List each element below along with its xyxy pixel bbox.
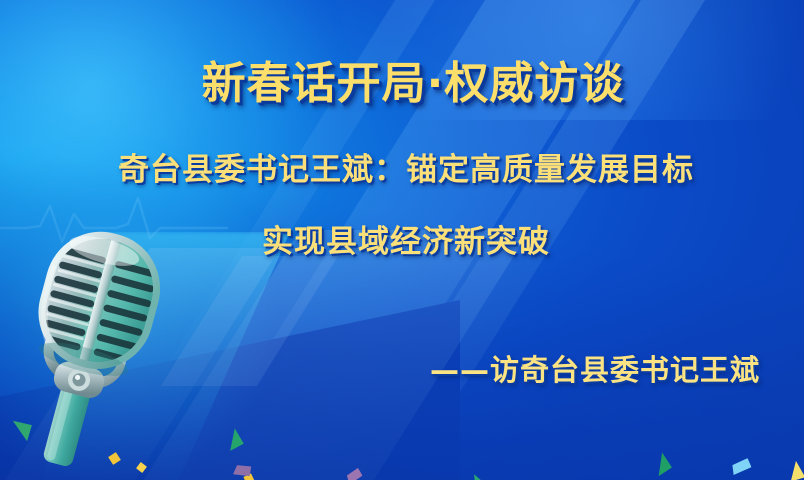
interview-poster: 新春话开局·权威访谈 奇台县委书记王斌：锚定高质量发展目标 实现县域经济新突破 … [0,0,804,480]
headline-line-1: 奇台县委书记王斌：锚定高质量发展目标 [0,150,804,190]
poster-text-block: 新春话开局·权威访谈 奇台县委书记王斌：锚定高质量发展目标 实现县域经济新突破 … [0,0,804,480]
byline: ——访奇台县委书记王斌 [0,350,804,390]
program-title: 新春话开局·权威访谈 [0,58,804,110]
headline-line-2: 实现县域经济新突破 [0,222,804,262]
